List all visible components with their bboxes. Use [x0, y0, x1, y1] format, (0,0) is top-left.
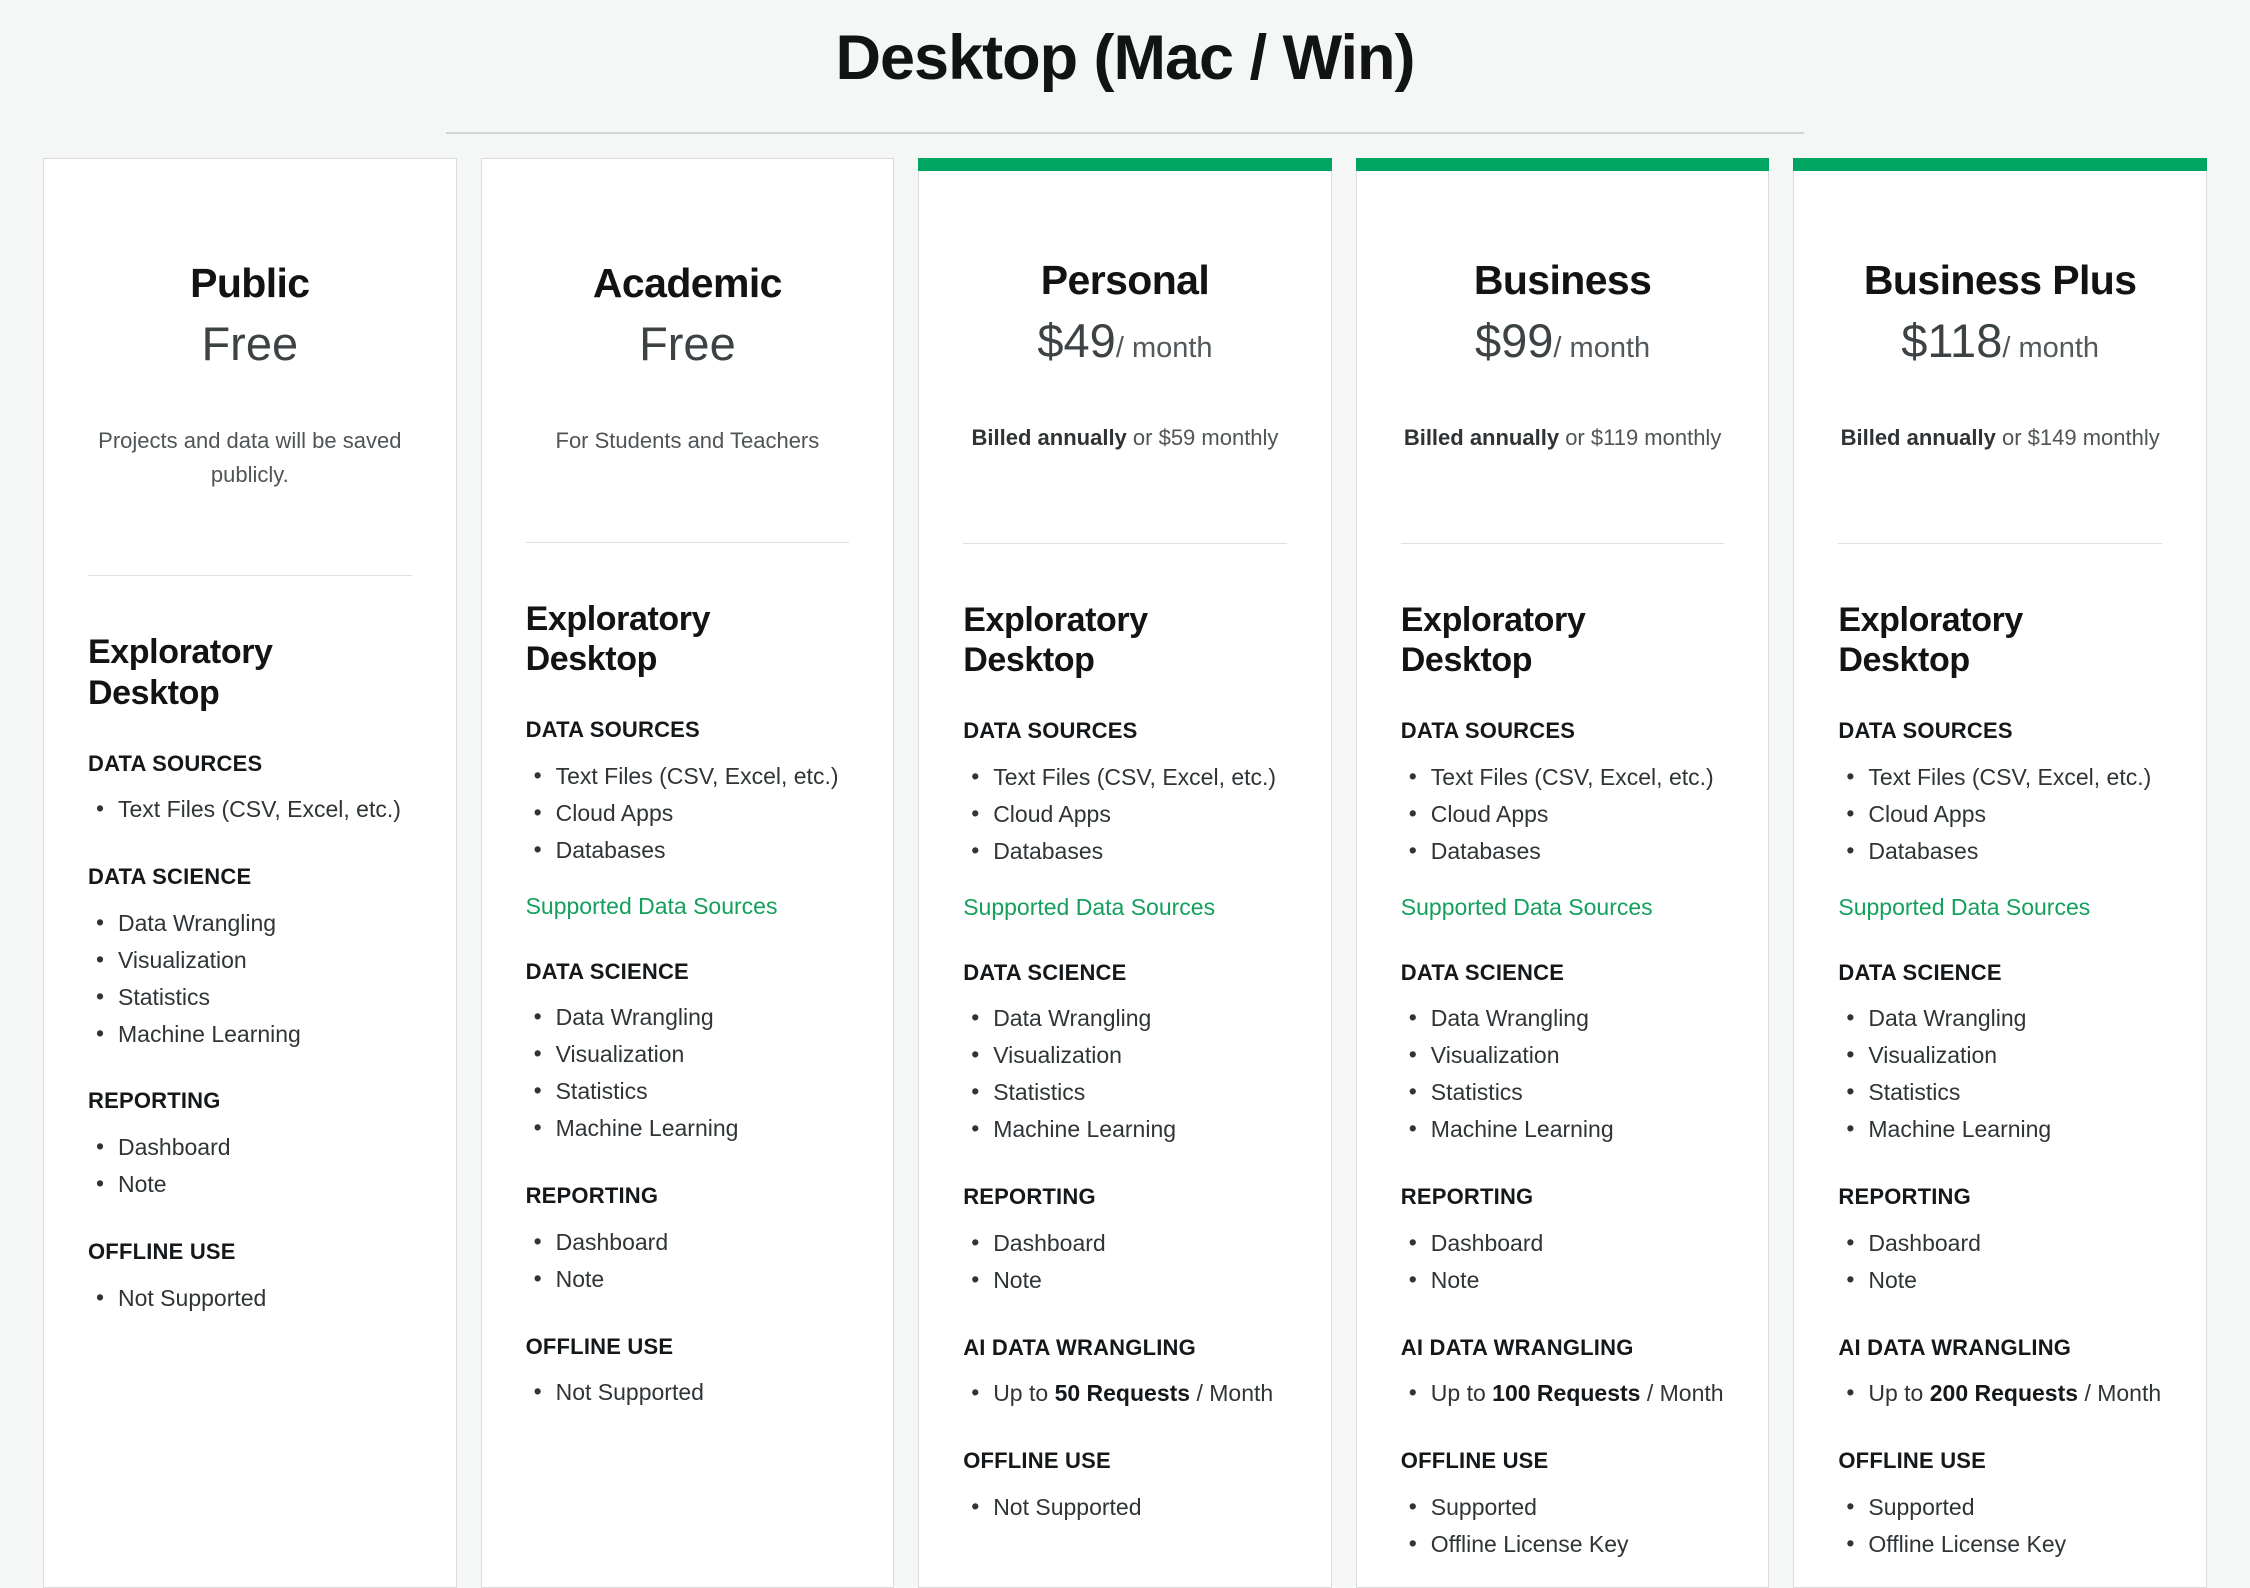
divider-spacer	[963, 544, 1287, 600]
feature-list-item: Data Wrangling	[526, 1000, 850, 1035]
feature-group: REPORTINGDashboardNote	[526, 1182, 850, 1297]
feature-section-title: Exploratory Desktop	[1401, 600, 1725, 682]
feature-item-text: Visualization	[118, 947, 247, 973]
header-spacer	[1838, 455, 2162, 543]
feature-list: Not Supported	[88, 1281, 412, 1316]
feature-list: DashboardNote	[963, 1226, 1287, 1298]
feature-item-text: Dashboard	[1431, 1230, 1544, 1256]
supported-data-sources-link[interactable]: Supported Data Sources	[1401, 891, 1725, 923]
feature-list-item: Statistics	[1401, 1075, 1725, 1110]
feature-list-item: Up to 50 Requests / Month	[963, 1376, 1287, 1411]
feature-item-text: Visualization	[993, 1042, 1122, 1068]
plan-price-amount: Free	[201, 317, 298, 370]
feature-item-suffix: / Month	[1190, 1380, 1273, 1406]
feature-list: Data WranglingVisualizationStatisticsMac…	[1838, 1001, 2162, 1147]
feature-group: DATA SOURCESText Files (CSV, Excel, etc.…	[1401, 717, 1725, 923]
feature-item-text: Not Supported	[993, 1494, 1141, 1520]
feature-item-text: Statistics	[993, 1079, 1085, 1105]
plan-price-period: / month	[2002, 332, 2099, 364]
feature-item-quota: 100 Requests	[1492, 1380, 1640, 1406]
feature-item-text: Offline License Key	[1868, 1531, 2066, 1557]
feature-list: Not Supported	[963, 1490, 1287, 1525]
plan-price-period: / month	[1116, 332, 1213, 364]
plan-billing-note-text: or $149 monthly	[1996, 425, 2160, 450]
header-spacer	[1401, 455, 1725, 543]
feature-group: DATA SCIENCEData WranglingVisualizationS…	[88, 863, 412, 1051]
plan-billing-note: Billed annually or $119 monthly	[1401, 421, 1725, 454]
plan-name: Business Plus	[1838, 256, 2162, 304]
plan-price-amount: $49	[1037, 314, 1115, 367]
feature-list-item: Dashboard	[1401, 1226, 1725, 1261]
plan-price-amount: $99	[1475, 314, 1553, 367]
pricing-card-academic[interactable]: AcademicFreeFor Students and TeachersExp…	[481, 158, 895, 1588]
feature-item-text: Statistics	[1431, 1079, 1523, 1105]
feature-group: DATA SOURCESText Files (CSV, Excel, etc.…	[88, 750, 412, 828]
feature-list: Text Files (CSV, Excel, etc.)	[88, 792, 412, 827]
divider-spacer	[88, 576, 412, 632]
feature-list-item: Machine Learning	[963, 1112, 1287, 1147]
header-spacer	[526, 458, 850, 542]
title-divider	[446, 132, 1804, 134]
pricing-card-business[interactable]: Business$99/ monthBilled annually or $11…	[1356, 158, 1770, 1588]
feature-group: OFFLINE USESupportedOffline License Key	[1838, 1447, 2162, 1562]
card-header: Personal$49/ monthBilled annually or $59…	[963, 159, 1287, 454]
feature-list-item: Note	[526, 1262, 850, 1297]
feature-group: DATA SCIENCEData WranglingVisualizationS…	[1838, 959, 2162, 1147]
feature-group: DATA SOURCESText Files (CSV, Excel, etc.…	[1838, 717, 2162, 923]
feature-item-text: Statistics	[556, 1078, 648, 1104]
feature-item-text: Dashboard	[1868, 1230, 1981, 1256]
feature-group-label: DATA SCIENCE	[963, 959, 1287, 988]
feature-group: REPORTINGDashboardNote	[1401, 1183, 1725, 1298]
pricing-card-personal[interactable]: Personal$49/ monthBilled annually or $59…	[918, 158, 1332, 1588]
feature-list-item: Data Wrangling	[963, 1001, 1287, 1036]
feature-list-item: Statistics	[963, 1075, 1287, 1110]
feature-item-text: Text Files (CSV, Excel, etc.)	[1431, 764, 1714, 790]
feature-item-text: Cloud Apps	[1431, 801, 1549, 827]
feature-item-text: Text Files (CSV, Excel, etc.)	[1868, 764, 2151, 790]
feature-list: Text Files (CSV, Excel, etc.)Cloud AppsD…	[1401, 760, 1725, 869]
feature-list-item: Note	[1401, 1263, 1725, 1298]
card-accent-bar	[1793, 158, 2207, 171]
pricing-card-business-plus[interactable]: Business Plus$118/ monthBilled annually …	[1793, 158, 2207, 1588]
divider-spacer	[1401, 544, 1725, 600]
feature-group-label: REPORTING	[963, 1183, 1287, 1212]
plan-price-amount: $118	[1901, 314, 2002, 367]
feature-group-label: AI DATA WRANGLING	[963, 1334, 1287, 1363]
feature-group-label: DATA SOURCES	[1401, 717, 1725, 746]
feature-list: SupportedOffline License Key	[1838, 1490, 2162, 1562]
feature-list-item: Offline License Key	[1838, 1527, 2162, 1562]
feature-group-label: AI DATA WRANGLING	[1838, 1334, 2162, 1363]
feature-group: OFFLINE USENot Supported	[88, 1238, 412, 1316]
feature-item-text: Text Files (CSV, Excel, etc.)	[993, 764, 1276, 790]
feature-list: Up to 100 Requests / Month	[1401, 1376, 1725, 1411]
feature-item-text: Note	[556, 1266, 605, 1292]
feature-item-text: Machine Learning	[556, 1115, 739, 1141]
plan-name: Public	[88, 259, 412, 307]
feature-list-item: Statistics	[526, 1074, 850, 1109]
feature-item-text: Data Wrangling	[993, 1005, 1151, 1031]
feature-list-item: Dashboard	[963, 1226, 1287, 1261]
feature-item-text: Machine Learning	[993, 1116, 1176, 1142]
feature-list-item: Offline License Key	[1401, 1527, 1725, 1562]
feature-item-text: Note	[1431, 1267, 1480, 1293]
feature-group: DATA SOURCESText Files (CSV, Excel, etc.…	[526, 716, 850, 922]
feature-group: REPORTINGDashboardNote	[963, 1183, 1287, 1298]
feature-group-label: OFFLINE USE	[963, 1447, 1287, 1476]
feature-item-text: Text Files (CSV, Excel, etc.)	[556, 763, 839, 789]
feature-list-item: Visualization	[1838, 1038, 2162, 1073]
feature-list-item: Visualization	[1401, 1038, 1725, 1073]
feature-item-text: Statistics	[118, 984, 210, 1010]
feature-list-item: Statistics	[1838, 1075, 2162, 1110]
card-header: PublicFreeProjects and data will be save…	[88, 159, 412, 491]
feature-list: Up to 50 Requests / Month	[963, 1376, 1287, 1411]
feature-item-text: Cloud Apps	[1868, 801, 1986, 827]
feature-item-text: Machine Learning	[1868, 1116, 2051, 1142]
supported-data-sources-link[interactable]: Supported Data Sources	[963, 891, 1287, 923]
feature-list-item: Statistics	[88, 980, 412, 1015]
feature-list-item: Data Wrangling	[1401, 1001, 1725, 1036]
feature-item-text: Statistics	[1868, 1079, 1960, 1105]
divider-spacer	[1838, 544, 2162, 600]
feature-list-item: Visualization	[963, 1038, 1287, 1073]
feature-list-item: Cloud Apps	[526, 796, 850, 831]
feature-list-item: Note	[88, 1167, 412, 1202]
feature-group-label: DATA SCIENCE	[88, 863, 412, 892]
plan-billing-note: Billed annually or $59 monthly	[963, 421, 1287, 454]
card-header: Business$99/ monthBilled annually or $11…	[1401, 159, 1725, 454]
feature-group: AI DATA WRANGLINGUp to 200 Requests / Mo…	[1838, 1334, 2162, 1412]
feature-list: Data WranglingVisualizationStatisticsMac…	[88, 906, 412, 1052]
feature-list-item: Databases	[526, 833, 850, 868]
feature-list-item: Machine Learning	[526, 1111, 850, 1146]
supported-data-sources-link[interactable]: Supported Data Sources	[526, 890, 850, 922]
plan-billing-note: For Students and Teachers	[526, 424, 850, 457]
feature-list: Data WranglingVisualizationStatisticsMac…	[963, 1001, 1287, 1147]
feature-list-item: Databases	[963, 834, 1287, 869]
feature-list-item: Databases	[1838, 834, 2162, 869]
feature-list-item: Supported	[1838, 1490, 2162, 1525]
feature-list-item: Note	[963, 1263, 1287, 1298]
feature-list-item: Cloud Apps	[1838, 797, 2162, 832]
feature-list-item: Machine Learning	[88, 1017, 412, 1052]
feature-item-text: Offline License Key	[1431, 1531, 1629, 1557]
feature-list-item: Supported	[1401, 1490, 1725, 1525]
feature-section-title: Exploratory Desktop	[1838, 600, 2162, 682]
feature-list-item: Up to 200 Requests / Month	[1838, 1376, 2162, 1411]
feature-group-label: REPORTING	[1838, 1183, 2162, 1212]
feature-group: DATA SCIENCEData WranglingVisualizationS…	[963, 959, 1287, 1147]
header-spacer	[88, 491, 412, 575]
feature-section-title: Exploratory Desktop	[963, 600, 1287, 682]
feature-group: AI DATA WRANGLINGUp to 50 Requests / Mon…	[963, 1334, 1287, 1412]
feature-group: OFFLINE USESupportedOffline License Key	[1401, 1447, 1725, 1562]
feature-item-text: Visualization	[1431, 1042, 1560, 1068]
card-accent-bar	[1356, 158, 1770, 171]
feature-list: Data WranglingVisualizationStatisticsMac…	[1401, 1001, 1725, 1147]
plan-billing-note-text: Projects and data will be saved publicly…	[98, 428, 401, 486]
feature-list-item: Cloud Apps	[963, 797, 1287, 832]
feature-group-label: REPORTING	[526, 1182, 850, 1211]
feature-list-item: Data Wrangling	[1838, 1001, 2162, 1036]
plan-price: $99/ month	[1401, 313, 1725, 369]
feature-list-item: Visualization	[526, 1037, 850, 1072]
feature-list-item: Text Files (CSV, Excel, etc.)	[1838, 760, 2162, 795]
feature-item-text: Machine Learning	[118, 1021, 301, 1047]
feature-item-prefix: Up to	[1431, 1380, 1492, 1406]
feature-item-text: Cloud Apps	[556, 800, 674, 826]
feature-group-label: DATA SOURCES	[1838, 717, 2162, 746]
plan-billing-note-emphasis: Billed annually	[1841, 425, 1996, 450]
feature-list: Text Files (CSV, Excel, etc.)Cloud AppsD…	[1838, 760, 2162, 869]
feature-item-text: Supported	[1868, 1494, 1974, 1520]
plan-price-period: / month	[1553, 332, 1650, 364]
feature-item-text: Note	[993, 1267, 1042, 1293]
feature-list: DashboardNote	[526, 1225, 850, 1297]
feature-item-prefix: Up to	[1868, 1380, 1929, 1406]
plan-price: Free	[526, 316, 850, 372]
feature-item-text: Databases	[1431, 838, 1541, 864]
plan-price: $49/ month	[963, 313, 1287, 369]
feature-group: OFFLINE USENot Supported	[963, 1447, 1287, 1525]
feature-item-text: Cloud Apps	[993, 801, 1111, 827]
feature-group-label: DATA SCIENCE	[526, 958, 850, 987]
feature-group-label: DATA SOURCES	[963, 717, 1287, 746]
feature-list-item: Dashboard	[88, 1130, 412, 1165]
feature-item-prefix: Up to	[993, 1380, 1054, 1406]
feature-list-item: Machine Learning	[1401, 1112, 1725, 1147]
plan-billing-note-text: or $59 monthly	[1127, 425, 1279, 450]
feature-item-text: Dashboard	[993, 1230, 1106, 1256]
plan-billing-note-text: For Students and Teachers	[556, 428, 820, 453]
feature-list-item: Databases	[1401, 834, 1725, 869]
supported-data-sources-link[interactable]: Supported Data Sources	[1838, 891, 2162, 923]
feature-group-label: DATA SCIENCE	[1401, 959, 1725, 988]
feature-list-item: Text Files (CSV, Excel, etc.)	[963, 760, 1287, 795]
feature-list: SupportedOffline License Key	[1401, 1490, 1725, 1562]
feature-list: DashboardNote	[88, 1130, 412, 1202]
feature-item-text: Databases	[993, 838, 1103, 864]
feature-item-text: Visualization	[1868, 1042, 1997, 1068]
feature-group: DATA SOURCESText Files (CSV, Excel, etc.…	[963, 717, 1287, 923]
feature-item-text: Not Supported	[118, 1285, 266, 1311]
card-header: AcademicFreeFor Students and Teachers	[526, 159, 850, 457]
feature-group-label: AI DATA WRANGLING	[1401, 1334, 1725, 1363]
feature-list: Data WranglingVisualizationStatisticsMac…	[526, 1000, 850, 1146]
feature-list-item: Dashboard	[1838, 1226, 2162, 1261]
pricing-page: Desktop (Mac / Win) PublicFreeProjects a…	[0, 0, 2250, 1588]
feature-item-text: Data Wrangling	[556, 1004, 714, 1030]
plan-billing-note: Billed annually or $149 monthly	[1838, 421, 2162, 454]
feature-group-label: REPORTING	[1401, 1183, 1725, 1212]
feature-item-text: Databases	[556, 837, 666, 863]
feature-list-item: Text Files (CSV, Excel, etc.)	[1401, 760, 1725, 795]
plan-billing-note-text: or $119 monthly	[1559, 425, 1721, 450]
feature-group: DATA SCIENCEData WranglingVisualizationS…	[526, 958, 850, 1146]
feature-item-text: Dashboard	[556, 1229, 669, 1255]
feature-item-text: Note	[1868, 1267, 1917, 1293]
page-title: Desktop (Mac / Win)	[0, 0, 2250, 93]
feature-group-label: DATA SCIENCE	[1838, 959, 2162, 988]
feature-list: DashboardNote	[1401, 1226, 1725, 1298]
plan-billing-note-emphasis: Billed annually	[972, 425, 1127, 450]
feature-list-item: Data Wrangling	[88, 906, 412, 941]
feature-item-text: Data Wrangling	[1431, 1005, 1589, 1031]
feature-item-text: Databases	[1868, 838, 1978, 864]
feature-item-text: Supported	[1431, 1494, 1537, 1520]
feature-item-suffix: / Month	[1640, 1380, 1723, 1406]
feature-item-text: Data Wrangling	[1868, 1005, 2026, 1031]
feature-list-item: Note	[1838, 1263, 2162, 1298]
feature-list: Up to 200 Requests / Month	[1838, 1376, 2162, 1411]
divider-spacer	[526, 543, 850, 599]
feature-item-quota: 50 Requests	[1055, 1380, 1191, 1406]
plan-name: Business	[1401, 256, 1725, 304]
feature-list-item: Not Supported	[88, 1281, 412, 1316]
feature-group: REPORTINGDashboardNote	[88, 1087, 412, 1202]
feature-group: REPORTINGDashboardNote	[1838, 1183, 2162, 1298]
feature-group: DATA SCIENCEData WranglingVisualizationS…	[1401, 959, 1725, 1147]
plan-price: $118/ month	[1838, 313, 2162, 369]
feature-section-title: Exploratory Desktop	[88, 632, 412, 714]
feature-section-title: Exploratory Desktop	[526, 599, 850, 681]
plan-name: Academic	[526, 259, 850, 307]
feature-item-text: Machine Learning	[1431, 1116, 1614, 1142]
feature-list-item: Not Supported	[963, 1490, 1287, 1525]
header-spacer	[963, 455, 1287, 543]
feature-group-label: OFFLINE USE	[88, 1238, 412, 1267]
feature-list-item: Dashboard	[526, 1225, 850, 1260]
pricing-card-public[interactable]: PublicFreeProjects and data will be save…	[43, 158, 457, 1588]
plan-billing-note: Projects and data will be saved publicly…	[88, 424, 412, 491]
plan-price-amount: Free	[639, 317, 736, 370]
card-accent-bar	[918, 158, 1332, 171]
feature-list-item: Not Supported	[526, 1375, 850, 1410]
feature-group-label: OFFLINE USE	[526, 1333, 850, 1362]
feature-group: OFFLINE USENot Supported	[526, 1333, 850, 1411]
feature-item-text: Not Supported	[556, 1379, 704, 1405]
feature-list-item: Cloud Apps	[1401, 797, 1725, 832]
feature-list-item: Visualization	[88, 943, 412, 978]
plan-name: Personal	[963, 256, 1287, 304]
feature-item-quota: 200 Requests	[1930, 1380, 2078, 1406]
feature-item-text: Text Files (CSV, Excel, etc.)	[118, 796, 401, 822]
feature-group-label: OFFLINE USE	[1838, 1447, 2162, 1476]
plan-price: Free	[88, 316, 412, 372]
feature-group-label: DATA SOURCES	[526, 716, 850, 745]
feature-list: Text Files (CSV, Excel, etc.)Cloud AppsD…	[526, 759, 850, 868]
pricing-cards-row: PublicFreeProjects and data will be save…	[0, 158, 2250, 1588]
feature-item-text: Visualization	[556, 1041, 685, 1067]
feature-list-item: Machine Learning	[1838, 1112, 2162, 1147]
feature-list: Text Files (CSV, Excel, etc.)Cloud AppsD…	[963, 760, 1287, 869]
feature-list: DashboardNote	[1838, 1226, 2162, 1298]
feature-group-label: DATA SOURCES	[88, 750, 412, 779]
feature-group-label: REPORTING	[88, 1087, 412, 1116]
feature-item-text: Dashboard	[118, 1134, 231, 1160]
card-header: Business Plus$118/ monthBilled annually …	[1838, 159, 2162, 454]
feature-list-item: Text Files (CSV, Excel, etc.)	[88, 792, 412, 827]
feature-list-item: Text Files (CSV, Excel, etc.)	[526, 759, 850, 794]
feature-item-suffix: / Month	[2078, 1380, 2161, 1406]
feature-item-text: Note	[118, 1171, 167, 1197]
feature-list: Not Supported	[526, 1375, 850, 1410]
feature-list-item: Up to 100 Requests / Month	[1401, 1376, 1725, 1411]
feature-group-label: OFFLINE USE	[1401, 1447, 1725, 1476]
feature-group: AI DATA WRANGLINGUp to 100 Requests / Mo…	[1401, 1334, 1725, 1412]
plan-billing-note-emphasis: Billed annually	[1404, 425, 1559, 450]
feature-item-text: Data Wrangling	[118, 910, 276, 936]
